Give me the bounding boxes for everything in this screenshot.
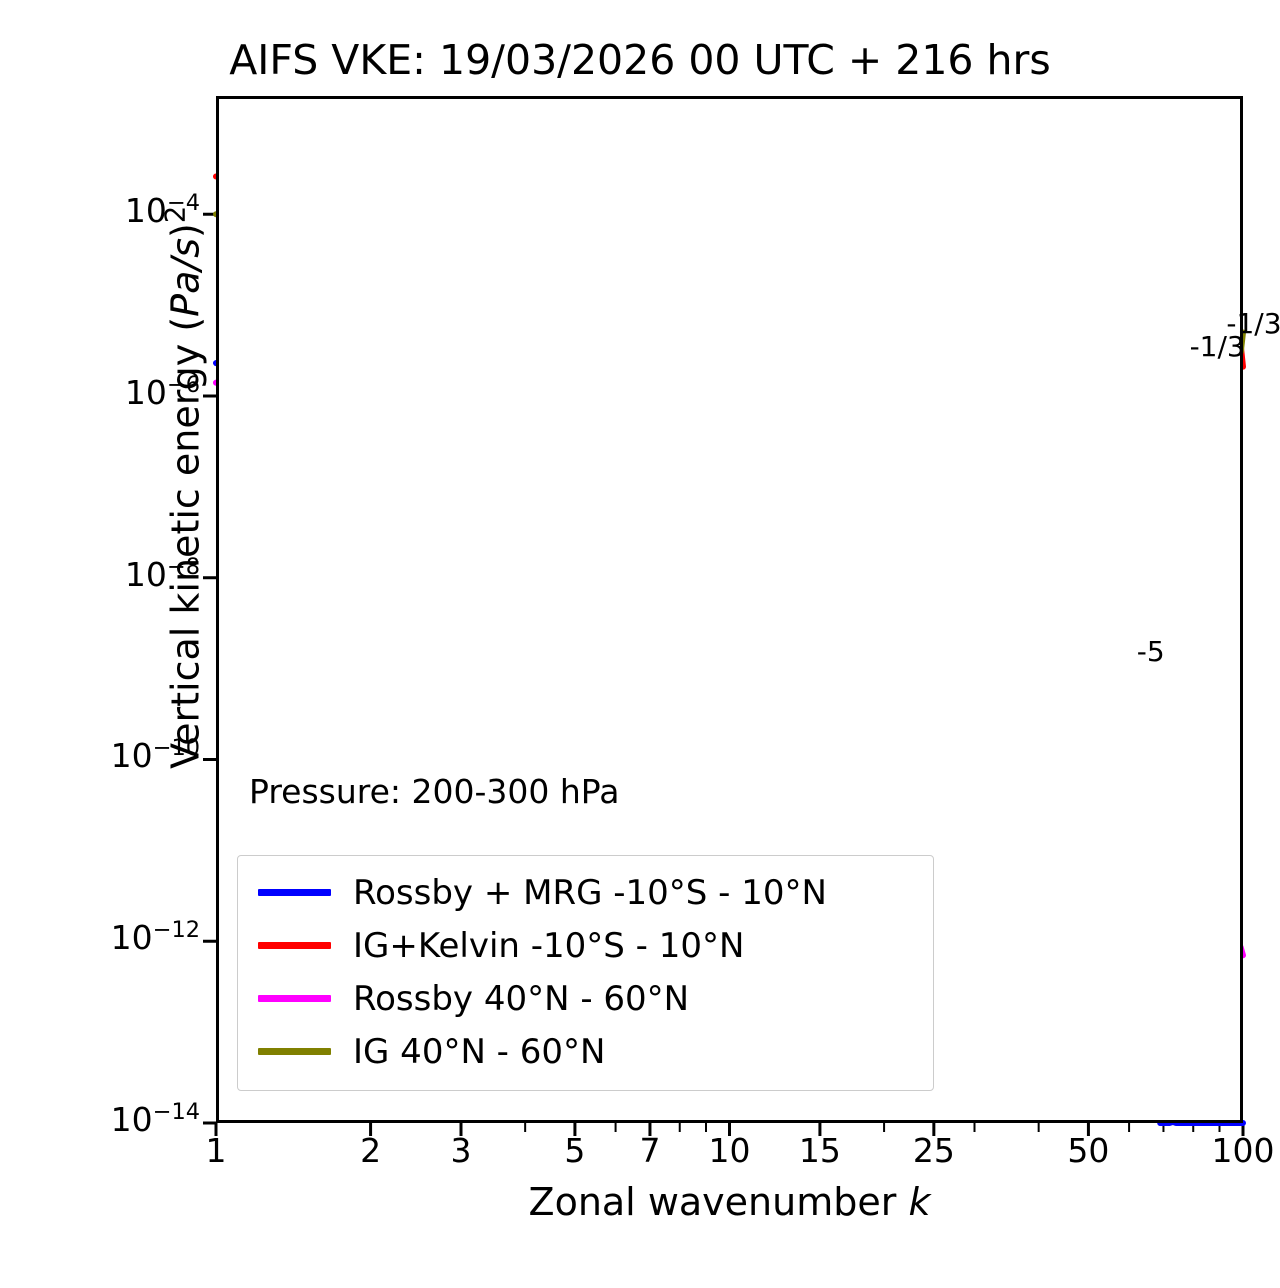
y-tick-label: 10−4 — [0, 190, 200, 230]
legend-item-label: IG 40°N - 60°N — [353, 1032, 605, 1072]
x-tick-label: 25 — [874, 1131, 994, 1170]
x-tick-label: 3 — [401, 1131, 521, 1170]
figure-canvas: AIFS VKE: 19/03/2026 00 UTC + 216 hrs Ve… — [0, 0, 1280, 1288]
pressure-annotation: Pressure: 200-300 hPa — [249, 772, 619, 811]
y-axis-label: Vertical kinetic energy (Pa/s)2 — [161, 137, 208, 837]
x-tick-label: 50 — [1028, 1131, 1148, 1170]
slope-label-minus5: -5 — [1137, 635, 1165, 668]
legend-item-label: Rossby 40°N - 60°N — [353, 979, 689, 1019]
y-tick-label: 10−12 — [0, 917, 200, 957]
legend-item[interactable]: IG 40°N - 60°N — [238, 1025, 933, 1078]
y-tick-label: 10−10 — [0, 735, 200, 775]
legend-color-swatch — [258, 1048, 331, 1055]
legend-item[interactable]: IG+Kelvin -10°S - 10°N — [238, 919, 933, 972]
slope-label-lower: -1/3 — [1190, 330, 1245, 363]
x-tick-label: 15 — [760, 1131, 880, 1170]
y-tick-label: 10−6 — [0, 372, 200, 412]
legend-item[interactable]: Rossby + MRG -10°S - 10°N — [238, 866, 933, 919]
x-axis-label: Zonal wavenumber k — [216, 1180, 1243, 1224]
legend: Rossby + MRG -10°S - 10°NIG+Kelvin -10°S… — [237, 855, 934, 1091]
x-tick-label: 100 — [1183, 1131, 1280, 1170]
legend-color-swatch — [258, 889, 331, 896]
legend-color-swatch — [258, 942, 331, 949]
y-tick-label: 10−8 — [0, 554, 200, 594]
legend-item-label: IG+Kelvin -10°S - 10°N — [353, 926, 744, 966]
legend-item[interactable]: Rossby 40°N - 60°N — [238, 972, 933, 1025]
legend-color-swatch — [258, 995, 331, 1002]
x-tick-label: 1 — [156, 1131, 276, 1170]
legend-item-label: Rossby + MRG -10°S - 10°N — [353, 873, 827, 913]
